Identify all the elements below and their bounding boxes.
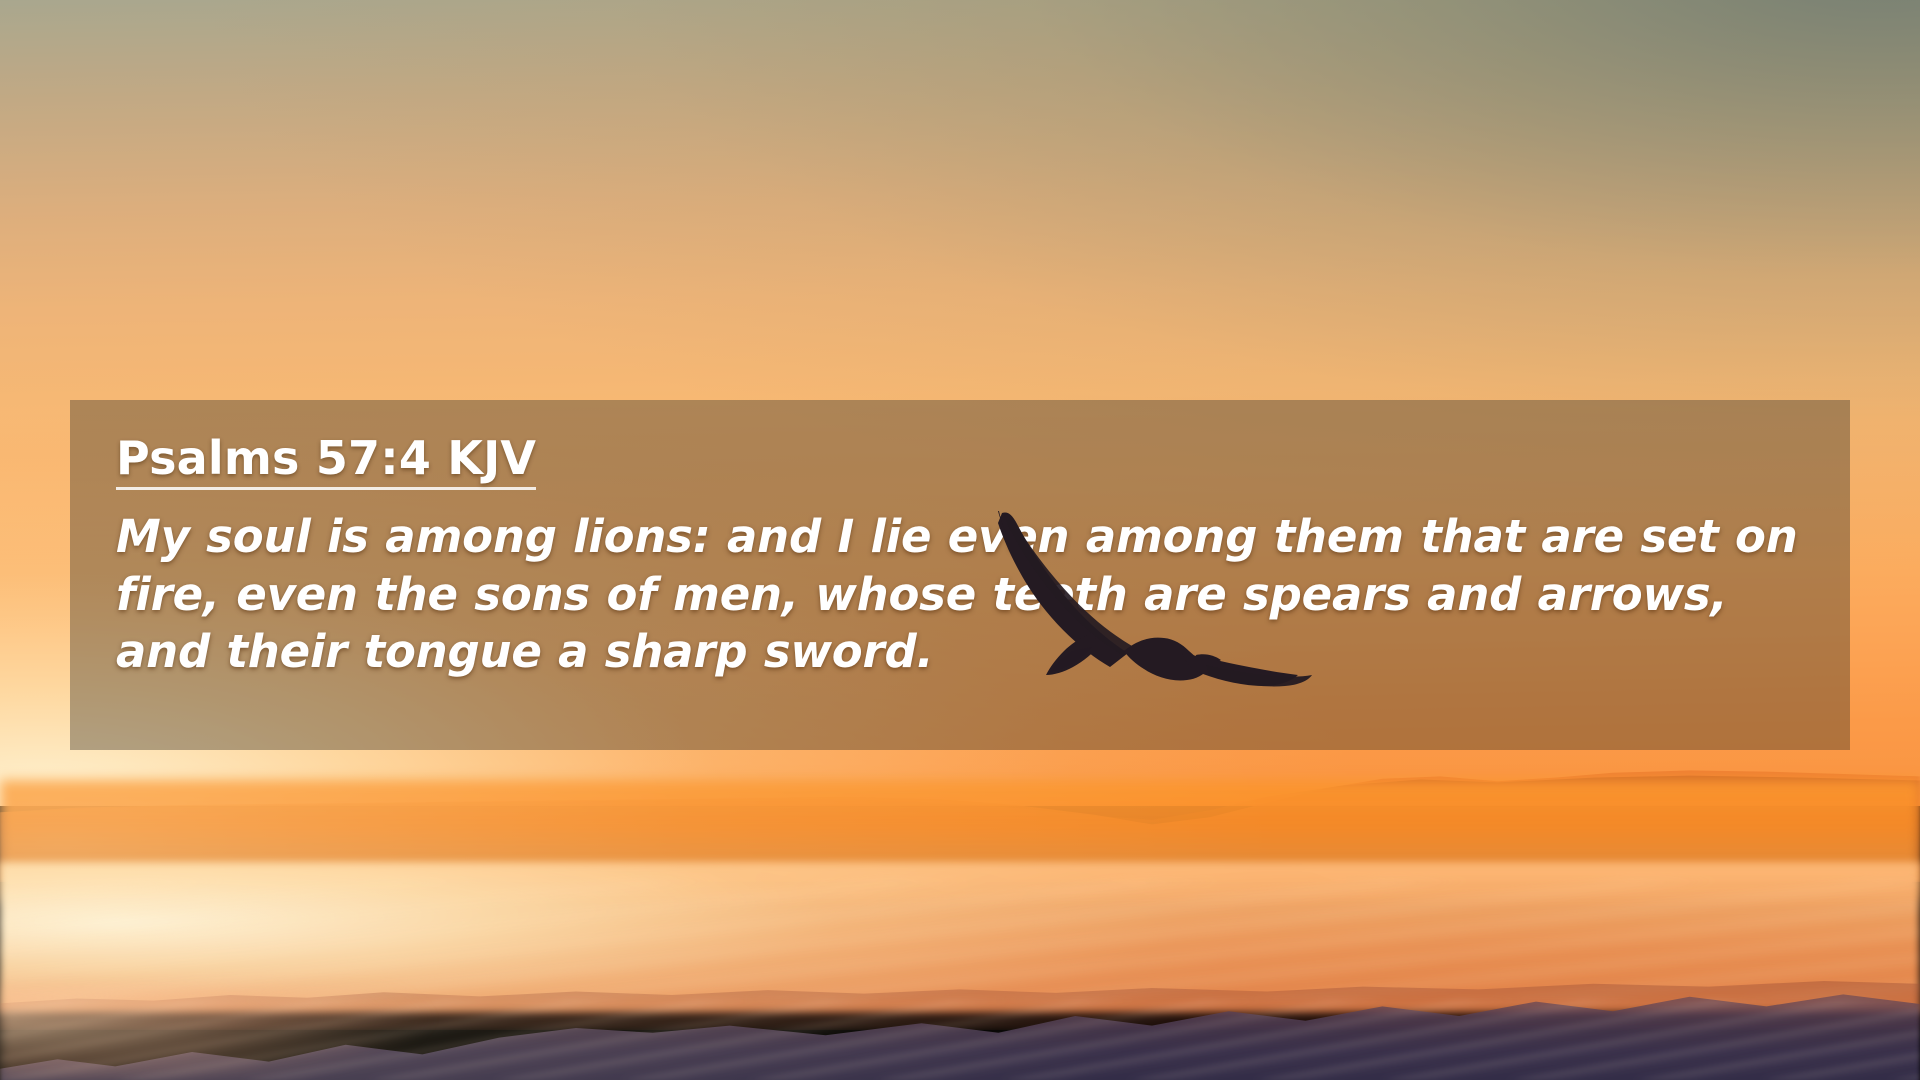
sun-reflection-on-water [0, 985, 760, 1080]
verse-image-scene: Psalms 57:4 KJV My soul is among lions: … [0, 0, 1920, 1080]
verse-reference: Psalms 57:4 KJV [116, 434, 536, 490]
verse-text: My soul is among lions: and I lie even a… [116, 508, 1804, 681]
verse-overlay-panel: Psalms 57:4 KJV My soul is among lions: … [70, 400, 1850, 750]
mist-streaks [0, 880, 1920, 1000]
